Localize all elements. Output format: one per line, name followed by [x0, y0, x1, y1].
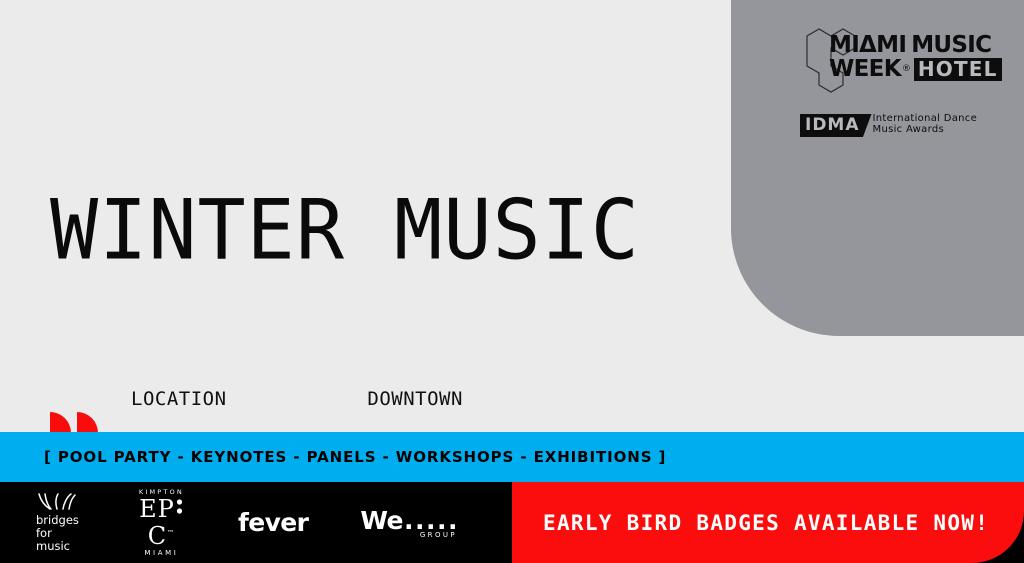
- early-bird-cta[interactable]: EARLY BIRD BADGES AVAILABLE NOW!: [512, 482, 1024, 563]
- mmw-badge-hotel: HOTEL: [914, 58, 1002, 81]
- sponsor-we-group[interactable]: We ..... GROUP: [360, 506, 459, 539]
- miami-music-week-hotel-logo: MIΔMI MUSIC WEEK ® HOTEL: [789, 26, 984, 96]
- mmw-word-music: MUSIC: [911, 34, 991, 57]
- we-group-label: GROUP: [420, 531, 457, 539]
- idma-subtitle-line1: International Dance: [873, 113, 978, 124]
- bridges-wordmark: bridges for music: [36, 514, 79, 553]
- epic-word-c: C: [148, 522, 167, 550]
- idma-subtitle-line2: Music Awards: [873, 124, 944, 135]
- bridges-line2: for music: [36, 527, 79, 553]
- idma-logo: IDMA International Dance Music Awards: [800, 114, 977, 137]
- sponsor-fever[interactable]: fever: [238, 508, 308, 537]
- program-strip-text: [ POOL PARTY - KEYNOTES - PANELS - WORKS…: [44, 448, 666, 466]
- program-strip: [ POOL PARTY - KEYNOTES - PANELS - WORKS…: [0, 432, 1024, 482]
- epic-wordmark: EPC™: [139, 497, 184, 548]
- bridges-wave-icon: [36, 492, 78, 511]
- epic-miami-label: MIAMI: [144, 549, 178, 557]
- idma-badge: IDMA: [800, 114, 872, 137]
- mmw-wordmark: MIΔMI MUSIC WEEK ® HOTEL: [829, 34, 989, 81]
- idma-subtitle: International Dance Music Awards: [873, 113, 978, 135]
- mmw-word-week: WEEK: [829, 58, 901, 81]
- sponsor-logo-list: bridges for music KIMPTON EPC™ MIAMI fev…: [0, 482, 512, 563]
- epic-word-ep: EP: [139, 495, 175, 523]
- we-word: We: [360, 506, 403, 535]
- winter-music-conference-banner: MIΔMI MUSIC WEEK ® HOTEL IDMA Internatio…: [0, 0, 1024, 563]
- epic-dot-i-icon: [175, 497, 184, 521]
- sponsor-bridges-for-music[interactable]: bridges for music: [36, 492, 79, 553]
- location-label: LOCATION: [131, 388, 287, 410]
- mmw-word-miami: MIΔMI: [829, 34, 906, 57]
- sponsor-kimpton-epic-miami[interactable]: KIMPTON EPC™ MIAMI: [139, 488, 184, 557]
- location-city-label: DOWNTOWN: [367, 388, 464, 410]
- headline-line-1: WINTER MUSIC: [50, 187, 640, 274]
- epic-trademark-icon: ™: [167, 529, 175, 537]
- cta-text: EARLY BIRD BADGES AVAILABLE NOW!: [543, 511, 989, 535]
- registered-mark-icon: ®: [902, 65, 911, 74]
